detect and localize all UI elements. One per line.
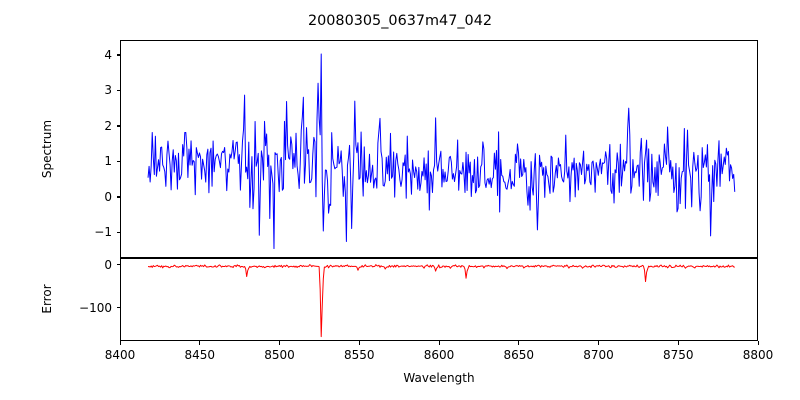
x-axis-label: Wavelength: [403, 371, 474, 385]
x-tick-label: 8600: [424, 348, 455, 362]
figure-canvas: 20080305_0637m47_042 −101234 Spectrum 0−…: [0, 0, 800, 400]
x-tickmark: [359, 341, 360, 345]
spectrum-y-tickmark: [117, 125, 121, 126]
x-tickmark: [120, 341, 121, 345]
x-tickmark: [439, 341, 440, 345]
spectrum-y-tick-label: 4: [104, 48, 112, 62]
error-y-axis-label: Error: [40, 284, 54, 313]
x-tickmark: [518, 341, 519, 345]
error-axes: [120, 258, 758, 341]
x-tick-label: 8700: [583, 348, 614, 362]
spectrum-axes: [120, 40, 758, 258]
spectrum-y-tickmark: [117, 54, 121, 55]
spectrum-line-series: [121, 41, 757, 257]
spectrum-y-tick-label: 2: [104, 119, 112, 133]
error-y-tickmark: [117, 264, 121, 265]
x-tickmark: [199, 341, 200, 345]
error-y-tickmark: [117, 307, 121, 308]
x-tick-label: 8550: [344, 348, 375, 362]
x-tick-label: 8450: [184, 348, 215, 362]
error-trace: [148, 265, 735, 337]
spectrum-y-tickmark: [117, 232, 121, 233]
x-tick-label: 8750: [663, 348, 694, 362]
x-tick-label: 8800: [743, 348, 774, 362]
x-tickmark: [678, 341, 679, 345]
error-y-tick-label: 0: [104, 258, 112, 272]
spectrum-y-axis-label: Spectrum: [40, 120, 54, 178]
spectrum-y-tick-label: 1: [104, 154, 112, 168]
x-tickmark: [758, 341, 759, 345]
spectrum-y-tickmark: [117, 90, 121, 91]
plot-title: 20080305_0637m47_042: [0, 13, 800, 29]
x-tickmark: [279, 341, 280, 345]
spectrum-y-tick-label: −1: [94, 225, 112, 239]
x-tick-label: 8650: [503, 348, 534, 362]
error-y-tick-label: −100: [79, 301, 112, 315]
x-tick-label: 8500: [264, 348, 295, 362]
x-tickmark: [598, 341, 599, 345]
error-line-series: [121, 259, 757, 340]
spectrum-trace: [148, 54, 735, 249]
spectrum-y-tick-label: 0: [104, 190, 112, 204]
spectrum-y-tickmark: [117, 161, 121, 162]
spectrum-y-tickmark: [117, 196, 121, 197]
spectrum-y-tick-label: 3: [104, 83, 112, 97]
x-tick-label: 8400: [105, 348, 136, 362]
